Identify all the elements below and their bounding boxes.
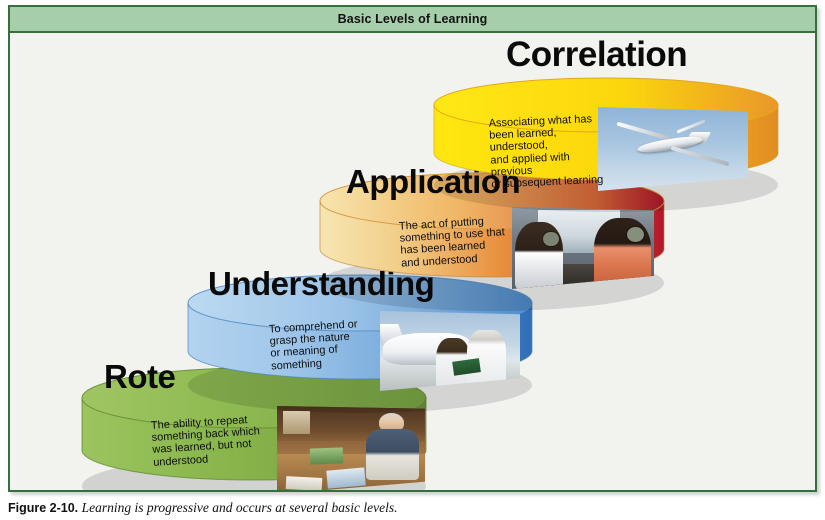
figure-header-title: Basic Levels of Learning [338,12,488,26]
rote-photo [277,406,425,490]
level-correlation[interactable]: Associating what has been learned, under… [426,71,798,216]
figure-header-bar: Basic Levels of Learning [10,7,815,33]
understanding-photo [380,311,520,391]
application-description: The act of putting something to use that… [399,213,522,269]
understanding-description: To comprehend or grasp the nature or mea… [269,316,390,372]
figure-frame: Basic Levels of Learning [8,5,817,492]
rote-description: The ability to repeat something back whi… [151,412,282,469]
application-photo [512,207,654,289]
correlation-description: Associating what has been learned, under… [488,112,611,190]
rote-title: Rote [104,360,175,393]
correlation-title: Correlation [506,37,687,72]
figure-caption-text: Learning is progressive and occurs at se… [82,500,398,515]
figure-caption: Figure 2-10. Learning is progressive and… [8,500,808,516]
figure-root: Basic Levels of Learning [0,0,825,520]
figure-caption-label: Figure 2-10. [8,501,78,515]
levels-stage: The ability to repeat something back whi… [10,33,815,490]
correlation-photo [598,107,748,191]
